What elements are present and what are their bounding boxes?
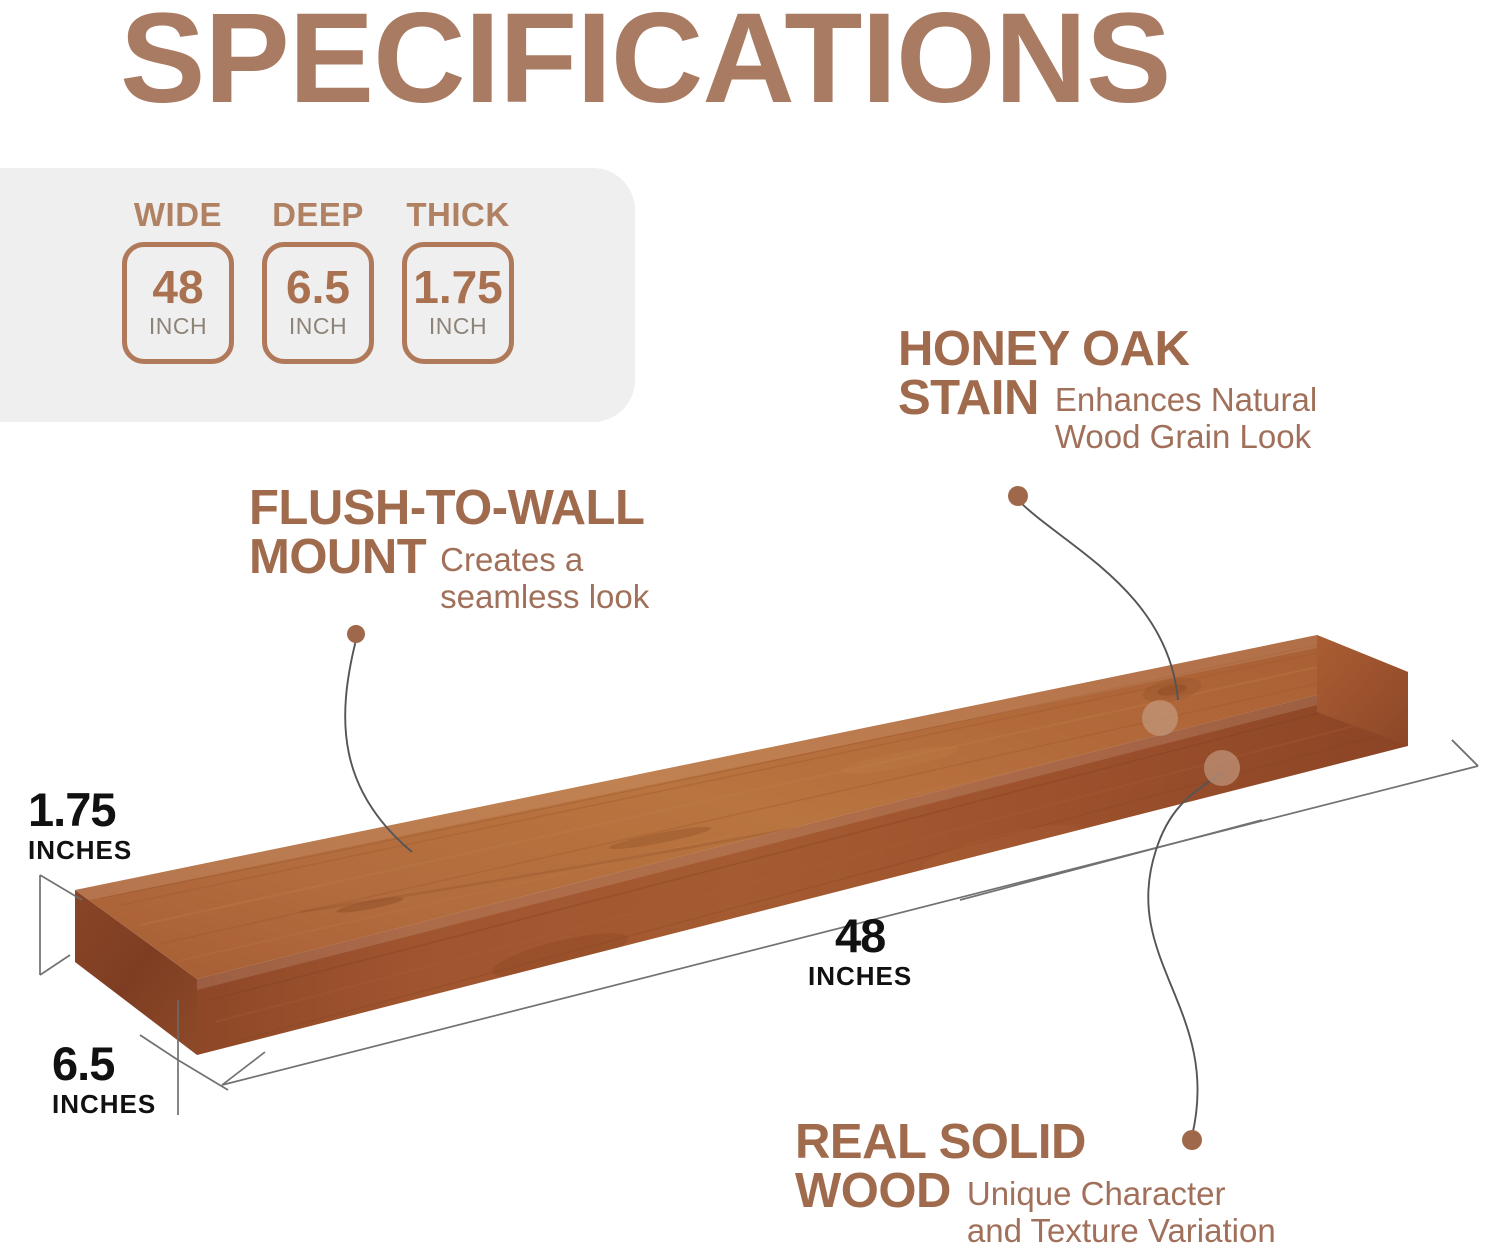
leader-flush-to-wall xyxy=(345,625,412,852)
leader-real-solid-wood xyxy=(1148,750,1240,1150)
dim-width-tick-right-2 xyxy=(1452,740,1478,766)
spec-value-wide: 48 xyxy=(152,266,203,310)
dim-width-tick-left xyxy=(222,1052,265,1085)
feature-title-honey-line2: STAIN xyxy=(898,374,1039,423)
spec-item-wide: WIDE 48 INCH xyxy=(120,196,236,364)
feature-title-flush-line2: MOUNT xyxy=(249,533,426,582)
shelf-top-grain xyxy=(75,635,1362,961)
dimension-value-depth: 6.5 xyxy=(52,1040,156,1087)
feature-desc-wood-line1: Unique Character xyxy=(967,1175,1276,1212)
spec-value-thick: 1.75 xyxy=(413,266,503,310)
feature-desc-flush-line1: Creates a xyxy=(440,541,649,578)
feature-real-solid-wood: REAL SOLID WOOD Unique Character and Tex… xyxy=(795,1118,1435,1249)
dim-width-tick-right xyxy=(1452,740,1478,766)
spec-unit-wide: INCH xyxy=(149,313,207,340)
dimension-unit-width: INCHES xyxy=(808,961,912,992)
dimension-lines xyxy=(40,740,1478,1115)
page-title: SPECIFICATIONS xyxy=(120,0,1170,126)
spec-box-deep: 6.5 INCH xyxy=(262,242,374,364)
leader-dot-honey-oak-stain xyxy=(1008,486,1028,506)
specifications-infographic: SPECIFICATIONS WIDE 48 INCH DEEP 6.5 INC… xyxy=(0,0,1500,1258)
spec-unit-deep: INCH xyxy=(289,313,347,340)
spec-unit-thick: INCH xyxy=(429,313,487,340)
spec-label-wide: WIDE xyxy=(134,196,222,234)
feature-desc-honey-line1: Enhances Natural xyxy=(1055,381,1317,418)
feature-desc-wood: Unique Character and Texture Variation xyxy=(967,1175,1276,1250)
feature-title-honey-line1: HONEY OAK xyxy=(898,322,1189,376)
dim-thickness-tick-bottom xyxy=(40,955,70,975)
feature-desc-honey: Enhances Natural Wood Grain Look xyxy=(1055,381,1317,456)
feature-desc-flush: Creates a seamless look xyxy=(440,541,649,616)
dim-width-guide-inner xyxy=(960,820,1262,900)
leader-target-real-solid-wood xyxy=(1204,750,1240,786)
dimension-label-thickness: 1.75 INCHES xyxy=(28,786,132,866)
spec-item-thick: THICK 1.75 INCH xyxy=(400,196,516,364)
feature-honey-oak-stain: HONEY OAK STAIN Enhances Natural Wood Gr… xyxy=(898,325,1468,455)
dimension-unit-depth: INCHES xyxy=(52,1089,156,1120)
dim-depth-tick-right xyxy=(178,1060,228,1090)
spec-box-thick: 1.75 INCH xyxy=(402,242,514,364)
shelf-front-face xyxy=(197,672,1408,1055)
feature-desc-wood-line2: and Texture Variation xyxy=(967,1212,1276,1249)
leader-target-honey-oak-stain xyxy=(1142,700,1178,736)
feature-title-wood-line2: WOOD xyxy=(795,1167,951,1216)
shelf-left-end-face xyxy=(75,890,197,1055)
spec-label-thick: THICK xyxy=(406,196,509,234)
dimension-label-depth: 6.5 INCHES xyxy=(52,1040,156,1120)
dim-thickness-tick-top xyxy=(40,875,82,900)
shelf-right-end-face xyxy=(1317,635,1408,746)
spec-value-deep: 6.5 xyxy=(286,266,350,310)
feature-title-flush-line1: FLUSH-TO-WALL xyxy=(249,484,809,533)
shelf-front-grain xyxy=(197,672,1408,1040)
dimension-label-width: 48 INCHES xyxy=(808,912,912,992)
feature-title-wood-line1: REAL SOLID xyxy=(795,1115,1086,1169)
dimension-value-thickness: 1.75 xyxy=(28,786,132,833)
spec-item-deep: DEEP 6.5 INCH xyxy=(260,196,376,364)
leader-honey-oak-stain xyxy=(1008,486,1178,736)
dimension-value-width: 48 xyxy=(808,912,912,959)
dimension-unit-thickness: INCHES xyxy=(28,835,132,866)
spec-summary-card: WIDE 48 INCH DEEP 6.5 INCH THICK 1.75 IN… xyxy=(0,168,635,422)
leader-dot-flush-to-wall xyxy=(347,625,365,643)
spec-box-wide: 48 INCH xyxy=(122,242,234,364)
feature-desc-honey-line2: Wood Grain Look xyxy=(1055,418,1317,455)
feature-flush-to-wall-mount: FLUSH-TO-WALL MOUNT Creates a seamless l… xyxy=(249,484,809,615)
feature-desc-flush-line2: seamless look xyxy=(440,578,649,615)
shelf-top-face xyxy=(75,635,1408,979)
spec-label-deep: DEEP xyxy=(272,196,364,234)
spec-row: WIDE 48 INCH DEEP 6.5 INCH THICK 1.75 IN… xyxy=(120,196,516,364)
